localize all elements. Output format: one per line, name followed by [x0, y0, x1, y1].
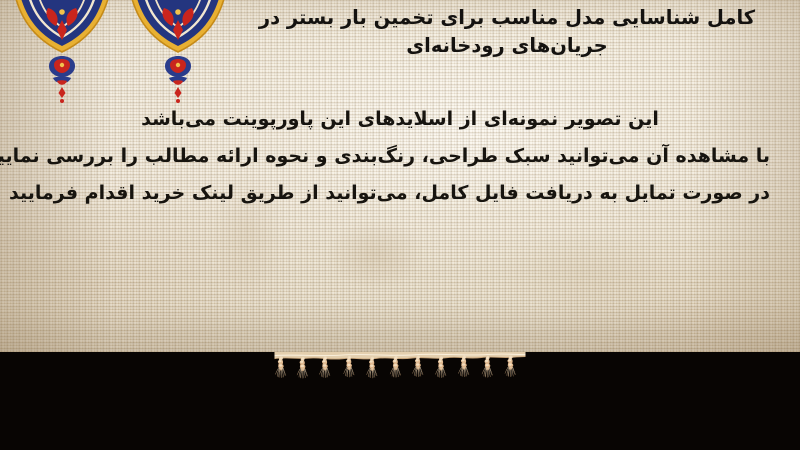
carpet-medallion-svg [0, 0, 240, 110]
slide-canvas: کامل شناسایی مدل مناسب برای تخمین بار بس… [0, 0, 800, 450]
slide-body: این تصویر نمونه‌ای از اسلایدهای این پاور… [30, 108, 770, 204]
fringe-knots [275, 357, 515, 378]
title-line-1: کامل شناسایی مدل مناسب برای تخمین بار بس… [236, 4, 778, 32]
body-line-2: با مشاهده آن می‌توانید سبک طراحی، رنگ‌بن… [30, 145, 770, 167]
carpet-medallion-left [10, 0, 114, 52]
carpet-fringe-svg [0, 352, 800, 382]
carpet-ornament-group [0, 0, 240, 110]
carpet-pendant-left [49, 56, 75, 103]
body-line-3: در صورت تمایل به دریافت فایل کامل، می‌تو… [30, 182, 770, 204]
carpet-medallion-right [126, 0, 230, 52]
body-line-1: این تصویر نمونه‌ای از اسلایدهای این پاور… [30, 108, 770, 130]
slide-title: کامل شناسایی مدل مناسب برای تخمین بار بس… [236, 4, 778, 59]
carpet-fringe-band [0, 352, 800, 450]
carpet-pendant-right [165, 56, 191, 103]
title-line-2: جریان‌های رودخانه‌ای [236, 32, 778, 60]
